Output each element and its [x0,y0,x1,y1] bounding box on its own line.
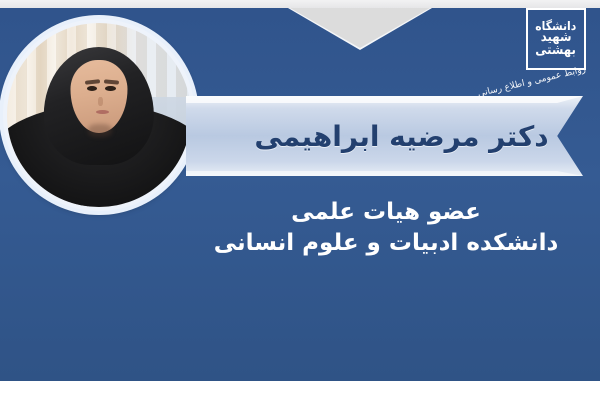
bottom-strip [0,381,600,400]
logo-frame-icon: دانشگاه شهید بهشتی [526,8,586,70]
person-nose [98,97,102,106]
logo-frame-inner: دانشگاه شهید بهشتی [531,13,581,65]
name-ribbon: دکتر مرضیه ابراهیمی [186,96,583,176]
subtitle-role: عضو هیات علمی [180,198,592,227]
university-logo: دانشگاه شهید بهشتی روابط عمومی و اطلاع ر… [496,6,592,90]
subtitle-faculty: دانشکده ادبیات و علوم انسانی [180,229,592,258]
portrait-photo [7,23,191,207]
faculty-profile-card: دکتر مرضیه ابراهیمی عضو هیات علمی دانشکد… [0,0,600,400]
person-name: دکتر مرضیه ابراهیمی [186,96,583,176]
logo-line-3: بهشتی [536,45,577,57]
avatar [3,19,195,211]
person-neck-shadow [88,124,112,137]
subtitle-block: عضو هیات علمی دانشکده ادبیات و علوم انسا… [180,198,592,258]
